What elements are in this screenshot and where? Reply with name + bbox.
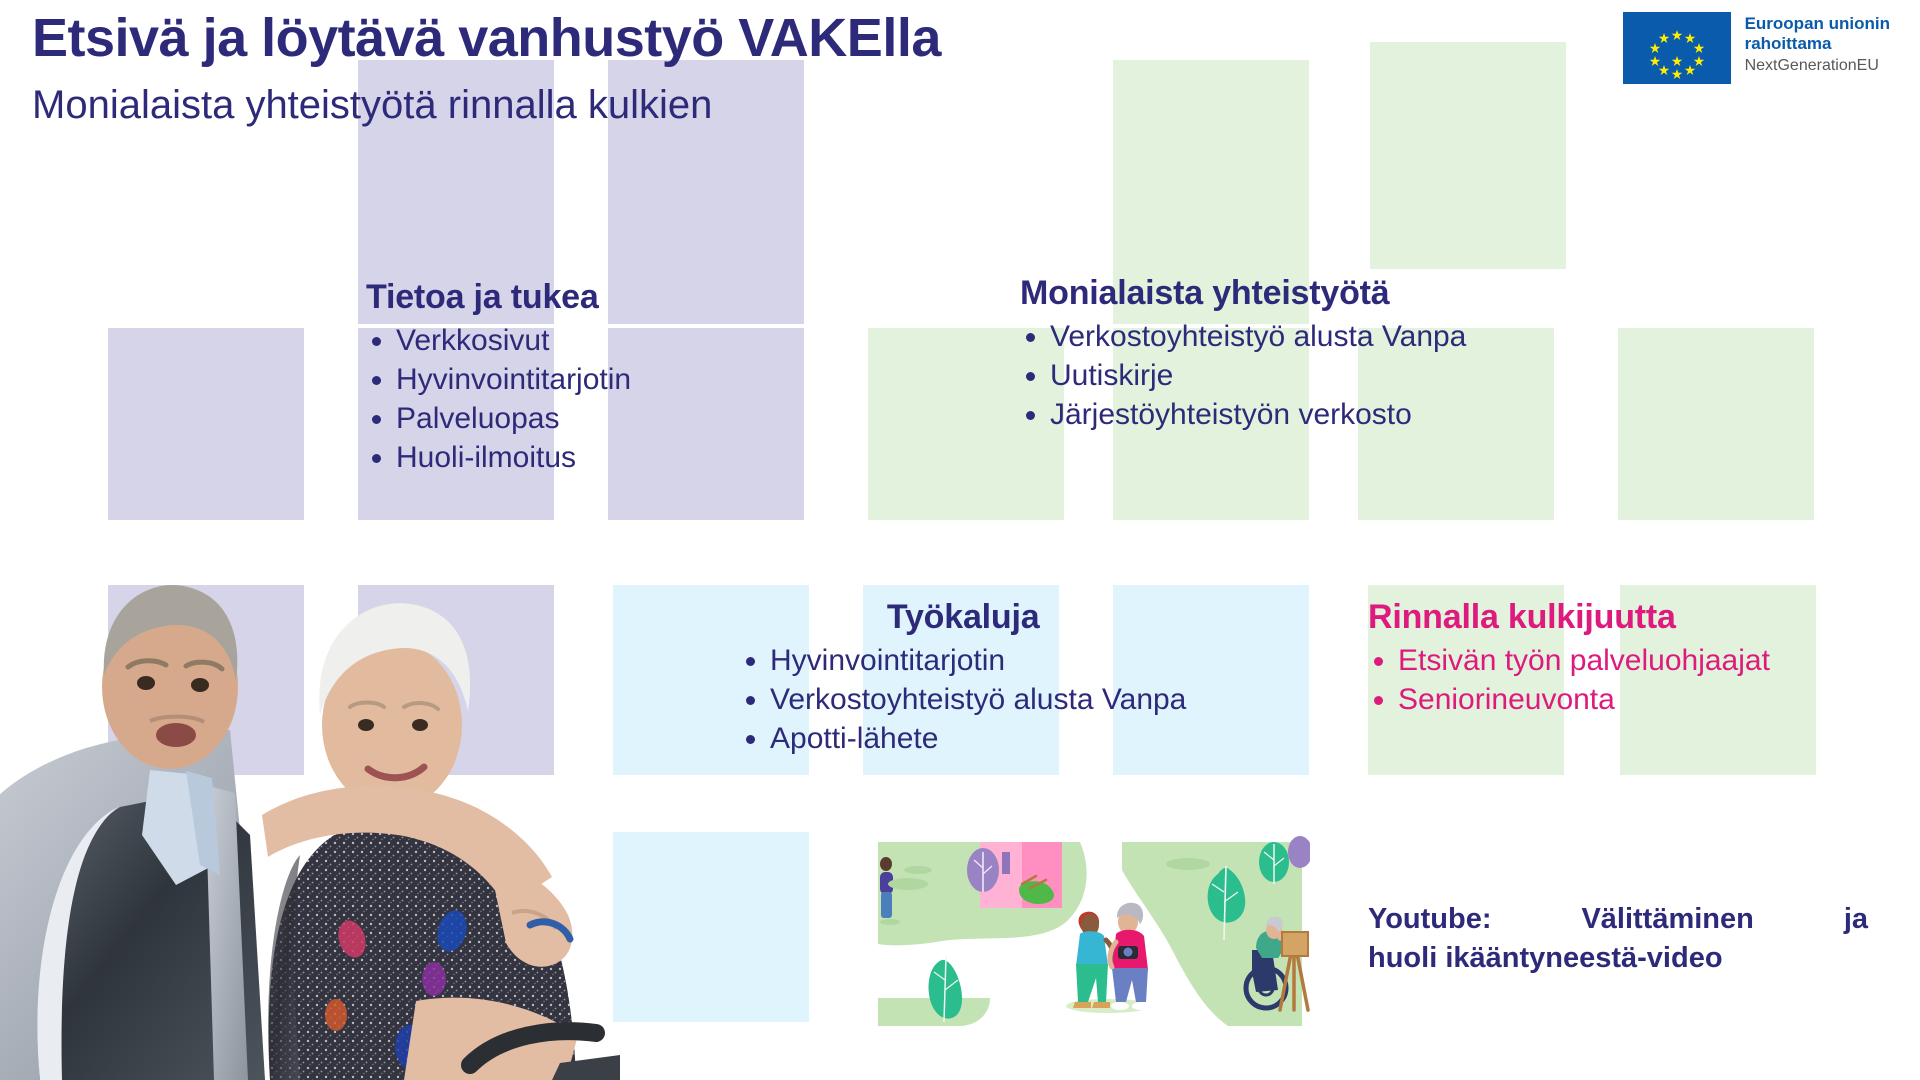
group-list-tietoa-ja-tukea: Verkkosivut Hyvinvointitarjotin Palveluo… <box>366 321 631 477</box>
list-item: Etsivän työn palveluohjaajat <box>1368 641 1770 680</box>
eu-logo-text: Euroopan unionin rahoittama NextGenerati… <box>1745 12 1890 77</box>
group-rinnalla-kulkijuutta: Rinnalla kulkijuutta Etsivän työn palvel… <box>1368 598 1770 719</box>
decor-block-blue-4 <box>613 832 809 1022</box>
group-monialaista-yhteistyota: Monialaista yhteistyötä Verkostoyhteisty… <box>1020 274 1466 434</box>
decor-block-lavender-5 <box>608 328 804 520</box>
decor-block-green-2 <box>1370 42 1566 269</box>
list-item: Hyvinvointitarjotin <box>740 641 1186 680</box>
eu-logo-line1: Euroopan unionin <box>1745 14 1890 34</box>
eu-logo-line2: rahoittama <box>1745 34 1890 54</box>
page-subtitle: Monialaista yhteistyötä rinnalla kulkien <box>32 83 941 127</box>
elderly-couple-photo <box>0 535 620 1080</box>
list-item: Järjestöyhteistyön verkosto <box>1020 395 1466 434</box>
page-title: Etsivä ja löytävä vanhustyö VAKElla <box>32 10 941 67</box>
group-heading-rinnalla-kulkijuutta: Rinnalla kulkijuutta <box>1368 598 1770 637</box>
title-area: Etsivä ja löytävä vanhustyö VAKElla Moni… <box>32 10 941 127</box>
youtube-caption-line1: Youtube: Välittäminen ja <box>1368 900 1868 939</box>
group-list-rinnalla-kulkijuutta: Etsivän työn palveluohjaajat Seniorineuv… <box>1368 641 1770 719</box>
list-item: Uutiskirje <box>1020 356 1466 395</box>
slide-canvas: Etsivä ja löytävä vanhustyö VAKElla Moni… <box>0 0 1920 1080</box>
list-item: Verkostoyhteistyö alusta Vanpa <box>740 680 1186 719</box>
list-item: Palveluopas <box>366 399 631 438</box>
list-item: Seniorineuvonta <box>1368 680 1770 719</box>
list-item: Hyvinvointitarjotin <box>366 360 631 399</box>
youtube-caption-line2: huoli ikääntyneestä-video <box>1368 939 1868 978</box>
eu-flag-icon <box>1623 12 1731 84</box>
decor-block-lavender-3 <box>108 328 304 520</box>
decor-block-green-6 <box>1618 328 1814 520</box>
list-item: Apotti-lähete <box>740 719 1186 758</box>
eu-logo-line3: NextGenerationEU <box>1745 56 1890 77</box>
list-item: Huoli-ilmoitus <box>366 438 631 477</box>
group-list-tyokaluja: Hyvinvointitarjotin Verkostoyhteistyö al… <box>740 641 1186 758</box>
eu-funding-logo: Euroopan unionin rahoittama NextGenerati… <box>1623 12 1890 84</box>
group-heading-tyokaluja: Työkaluja <box>740 598 1186 637</box>
group-list-monialaista-yhteistyota: Verkostoyhteistyö alusta Vanpa Uutiskirj… <box>1020 317 1466 434</box>
group-tyokaluja: Työkaluja Hyvinvointitarjotin Verkostoyh… <box>740 598 1186 758</box>
youtube-caption: Youtube: Välittäminen ja huoli ikääntyne… <box>1368 900 1868 978</box>
group-tietoa-ja-tukea: Tietoa ja tukea Verkkosivut Hyvinvointit… <box>366 278 631 477</box>
group-heading-monialaista-yhteistyota: Monialaista yhteistyötä <box>1020 274 1466 313</box>
group-heading-tietoa-ja-tukea: Tietoa ja tukea <box>366 278 631 317</box>
list-item: Verkostoyhteistyö alusta Vanpa <box>1020 317 1466 356</box>
park-scene-illustration <box>870 830 1310 1030</box>
list-item: Verkkosivut <box>366 321 631 360</box>
